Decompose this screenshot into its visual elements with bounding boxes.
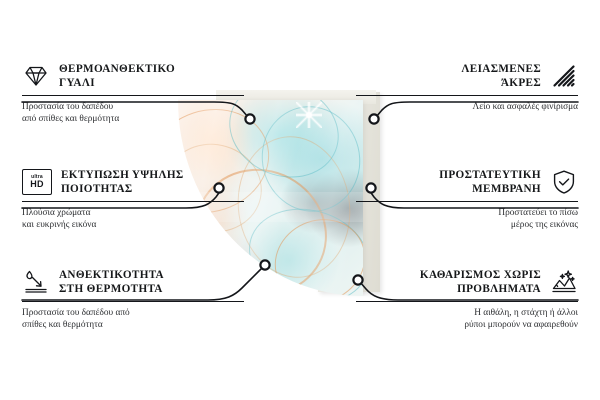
feature-header: ΚΑΘΑΡΙΣΜΟΣ ΧΩΡΙΣ ΠΡΟΒΛΗΜΑΤΑ bbox=[356, 268, 578, 296]
feature-title: ΘΕΡΜΟΑΝΘΕΚΤΙΚΟ ΓΥΑΛΙ bbox=[59, 62, 175, 90]
ultra-hd-icon: ultra HD bbox=[22, 169, 52, 195]
feature-title-line: ΣΤΗ ΘΕΡΜΟΤΗΤΑ bbox=[59, 282, 164, 296]
feature-title: ΚΑΘΑΡΙΣΜΟΣ ΧΩΡΙΣ ΠΡΟΒΛΗΜΑΤΑ bbox=[420, 268, 541, 296]
feature-title: ΛΕΙΑΣΜΕΝΕΣ ΆΚΡΕΣ bbox=[461, 62, 541, 90]
feature-description: Προστατεύει το πίσω μέρος της εικόνας bbox=[356, 207, 578, 232]
feature-header: ΘΕΡΜΟΑΝΘΕΚΤΙΚΟ ΓΥΑΛΙ bbox=[22, 62, 244, 90]
feature-title-line: ΜΕΜΒΡΑΝΗ bbox=[439, 182, 541, 196]
feature-description: Λείο και ασφαλές φινίρισμα bbox=[356, 101, 578, 113]
feature-divider bbox=[356, 95, 578, 96]
feature-title: ΠΡΟΣΤΑΤΕΥΤΙΚΗ ΜΕΜΒΡΑΝΗ bbox=[439, 168, 541, 196]
feature-protective-membrane[interactable]: ΠΡΟΣΤΑΤΕΥΤΙΚΗ ΜΕΜΒΡΑΝΗ Προστατεύει το πί… bbox=[356, 168, 578, 232]
feature-high-quality-print[interactable]: ultra HD ΕΚΤΥΠΩΣΗ ΥΨΗΛΗΣ ΠΟΙΟΤΗΤΑΣ Πλούσ… bbox=[22, 168, 244, 232]
feature-title-line: ΛΕΙΑΣΜΕΝΕΣ bbox=[461, 62, 541, 76]
sparkle-clean-icon bbox=[550, 268, 578, 296]
feature-divider bbox=[22, 301, 244, 302]
infographic-stage: ΘΕΡΜΟΑΝΘΕΚΤΙΚΟ ΓΥΑΛΙ Προστασία του δαπέδ… bbox=[0, 0, 600, 400]
feature-title-line: ΠΡΟΒΛΗΜΑΤΑ bbox=[420, 282, 541, 296]
feature-description-line: μέρος της εικόνας bbox=[356, 219, 578, 231]
feature-trouble-free-cleaning[interactable]: ΚΑΘΑΡΙΣΜΟΣ ΧΩΡΙΣ ΠΡΟΒΛΗΜΑΤΑ Η αιθάλη, η … bbox=[356, 268, 578, 332]
feature-divider bbox=[22, 201, 244, 202]
feature-header: ΠΡΟΣΤΑΤΕΥΤΙΚΗ ΜΕΜΒΡΑΝΗ bbox=[356, 168, 578, 196]
feature-title-line: ΚΑΘΑΡΙΣΜΟΣ ΧΩΡΙΣ bbox=[420, 268, 541, 282]
feature-header: ΑΝΘΕΚΤΙΚΟΤΗΤΑ ΣΤΗ ΘΕΡΜΟΤΗΤΑ bbox=[22, 268, 244, 296]
hatched-triangle-icon bbox=[550, 62, 578, 90]
feature-divider bbox=[356, 201, 578, 202]
diamond-icon bbox=[22, 62, 50, 90]
feature-heat-durability[interactable]: ΑΝΘΕΚΤΙΚΟΤΗΤΑ ΣΤΗ ΘΕΡΜΟΤΗΤΑ Προστασία το… bbox=[22, 268, 244, 332]
feature-title-line: ΓΥΑΛΙ bbox=[59, 76, 175, 90]
feature-description-line: Λείο και ασφαλές φινίρισμα bbox=[356, 101, 578, 113]
feature-description-line: Προστασία του δαπέδου από bbox=[22, 307, 244, 319]
feature-description: Προστασία του δαπέδου από σπίθες και θερ… bbox=[22, 101, 244, 126]
feature-title-line: ΘΕΡΜΟΑΝΘΕΚΤΙΚΟ bbox=[59, 62, 175, 76]
feature-description-line: Πλούσια χρώματα bbox=[22, 207, 244, 219]
feature-description: Προστασία του δαπέδου από σπίθες και θερ… bbox=[22, 307, 244, 332]
shield-check-icon bbox=[550, 168, 578, 196]
feature-divider bbox=[356, 301, 578, 302]
feature-title-line: ΑΝΘΕΚΤΙΚΟΤΗΤΑ bbox=[59, 268, 164, 282]
feature-description: Η αιθάλη, η στάχτη ή άλλοι ρύποι μπορούν… bbox=[356, 307, 578, 332]
feature-description-line: από σπίθες και θερμότητα bbox=[22, 113, 244, 125]
feature-description-line: και ευκρινής εικόνα bbox=[22, 219, 244, 231]
feature-description-line: σπίθες και θερμότητα bbox=[22, 319, 244, 331]
feature-title-line: ΕΚΤΥΠΩΣΗ ΥΨΗΛΗΣ bbox=[61, 168, 184, 182]
feature-title: ΕΚΤΥΠΩΣΗ ΥΨΗΛΗΣ ΠΟΙΟΤΗΤΑΣ bbox=[61, 168, 184, 196]
feature-divider bbox=[22, 95, 244, 96]
feature-header: ultra HD ΕΚΤΥΠΩΣΗ ΥΨΗΛΗΣ ΠΟΙΟΤΗΤΑΣ bbox=[22, 168, 244, 196]
feature-description-line: Προστατεύει το πίσω bbox=[356, 207, 578, 219]
feature-title: ΑΝΘΕΚΤΙΚΟΤΗΤΑ ΣΤΗ ΘΕΡΜΟΤΗΤΑ bbox=[59, 268, 164, 296]
feature-description-line: Προστασία του δαπέδου bbox=[22, 101, 244, 113]
feature-title-line: ΠΡΟΣΤΑΤΕΥΤΙΚΗ bbox=[439, 168, 541, 182]
feature-heat-resistant-glass[interactable]: ΘΕΡΜΟΑΝΘΕΚΤΙΚΟ ΓΥΑΛΙ Προστασία του δαπέδ… bbox=[22, 62, 244, 126]
feature-title-line: ΠΟΙΟΤΗΤΑΣ bbox=[61, 182, 184, 196]
feature-description-line: ρύποι μπορούν να αφαιρεθούν bbox=[356, 319, 578, 331]
flame-deflect-icon bbox=[22, 268, 50, 296]
feature-description-line: Η αιθάλη, η στάχτη ή άλλοι bbox=[356, 307, 578, 319]
feature-title-line: ΆΚΡΕΣ bbox=[461, 76, 541, 90]
feature-description: Πλούσια χρώματα και ευκρινής εικόνα bbox=[22, 207, 244, 232]
feature-header: ΛΕΙΑΣΜΕΝΕΣ ΆΚΡΕΣ bbox=[356, 62, 578, 90]
ultra-hd-icon-bottom-text: HD bbox=[30, 180, 43, 189]
feature-polished-edges[interactable]: ΛΕΙΑΣΜΕΝΕΣ ΆΚΡΕΣ Λείο και ασφαλές φινίρι… bbox=[356, 62, 578, 113]
